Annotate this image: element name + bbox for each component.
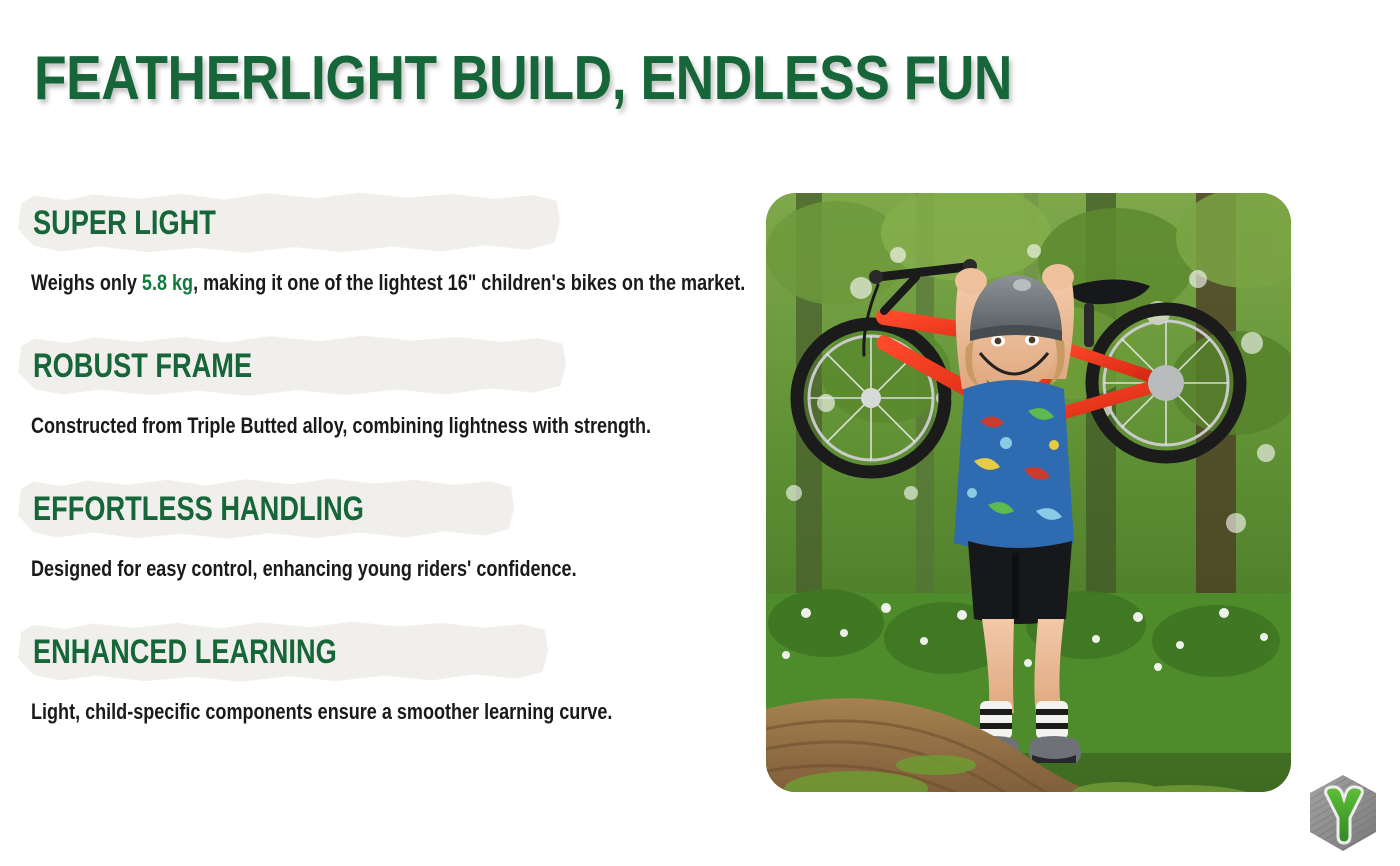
feature-body-text-before: Weighs only	[31, 270, 142, 295]
feature-body-3: Designed for easy control, enhancing you…	[31, 556, 577, 582]
page-title: FEATHERLIGHT BUILD, ENDLESS FUN	[34, 44, 1012, 114]
feature-heading-4: ENHANCED LEARNING	[33, 633, 337, 671]
brand-logo-mark	[1300, 770, 1386, 856]
feature-body-text-after: , making it one of the lightest 16" chil…	[193, 270, 745, 295]
feature-heading-2: ROBUST FRAME	[33, 347, 252, 385]
feature-heading-3: EFFORTLESS HANDLING	[33, 490, 364, 528]
photo-illustration	[766, 193, 1291, 792]
feature-body-highlight: 5.8 kg	[142, 270, 193, 295]
feature-body-2: Constructed from Triple Butted alloy, co…	[31, 413, 651, 439]
feature-item: EFFORTLESS HANDLING Designed for easy co…	[0, 472, 760, 615]
slide-root: FEATHERLIGHT BUILD, ENDLESS FUN SUPER LI…	[0, 0, 1400, 866]
product-photo	[766, 193, 1291, 792]
feature-item: ROBUST FRAME Constructed from Triple But…	[0, 329, 760, 472]
feature-list: SUPER LIGHT Weighs only 5.8 kg, making i…	[0, 186, 760, 786]
brand-logo	[1300, 770, 1386, 856]
feature-body-4: Light, child-specific components ensure …	[31, 699, 612, 725]
feature-item: SUPER LIGHT Weighs only 5.8 kg, making i…	[0, 186, 760, 329]
feature-item: ENHANCED LEARNING Light, child-specific …	[0, 615, 760, 758]
feature-body-1: Weighs only 5.8 kg, making it one of the…	[31, 270, 745, 296]
feature-heading-1: SUPER LIGHT	[33, 204, 216, 242]
